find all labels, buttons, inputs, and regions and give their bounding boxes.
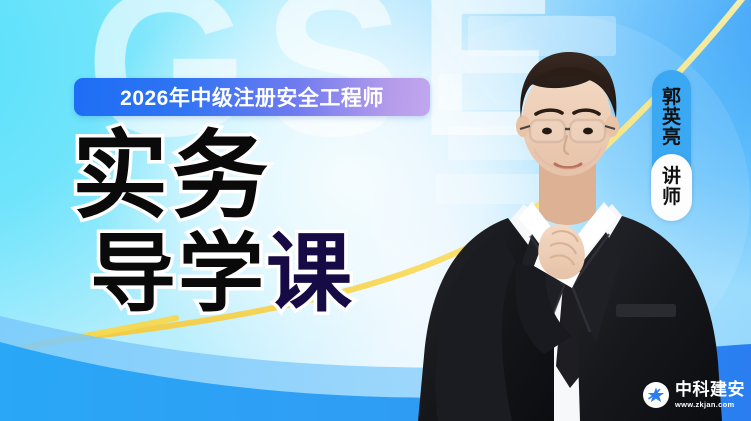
instructor-name-char-2: 英 — [662, 108, 681, 128]
course-title-text: 2026年中级注册安全工程师 — [120, 82, 384, 112]
brand-url: www.zkjan.com — [675, 401, 745, 409]
instructor-role: 讲 师 — [651, 154, 692, 221]
headline-group: 实务 导学课 — [72, 130, 354, 316]
headline-line-2-black: 导学 — [90, 226, 266, 322]
course-poster: GSE — [0, 0, 751, 421]
headline-line-2: 导学课 — [90, 232, 354, 316]
instructor-name: 郭 英 亮 — [652, 70, 691, 166]
instructor-name-char-3: 亮 — [662, 128, 681, 148]
brand-logo-block[interactable]: 中科建安 www.zkjan.com — [633, 369, 751, 421]
brand-name: 中科建安 — [675, 381, 745, 398]
instructor-name-char-1: 郭 — [662, 88, 681, 108]
headline-line-2-navy: 课 — [266, 226, 354, 322]
brand-text: 中科建安 www.zkjan.com — [675, 381, 745, 409]
instructor-role-char-2: 师 — [662, 188, 681, 208]
course-title-badge: 2026年中级注册安全工程师 — [74, 78, 430, 116]
headline-line-1: 实务 — [72, 130, 354, 224]
instructor-role-char-1: 讲 — [662, 167, 681, 187]
instructor-badge: 郭 英 亮 讲 师 — [652, 70, 691, 208]
star-arrow-icon — [643, 382, 669, 408]
